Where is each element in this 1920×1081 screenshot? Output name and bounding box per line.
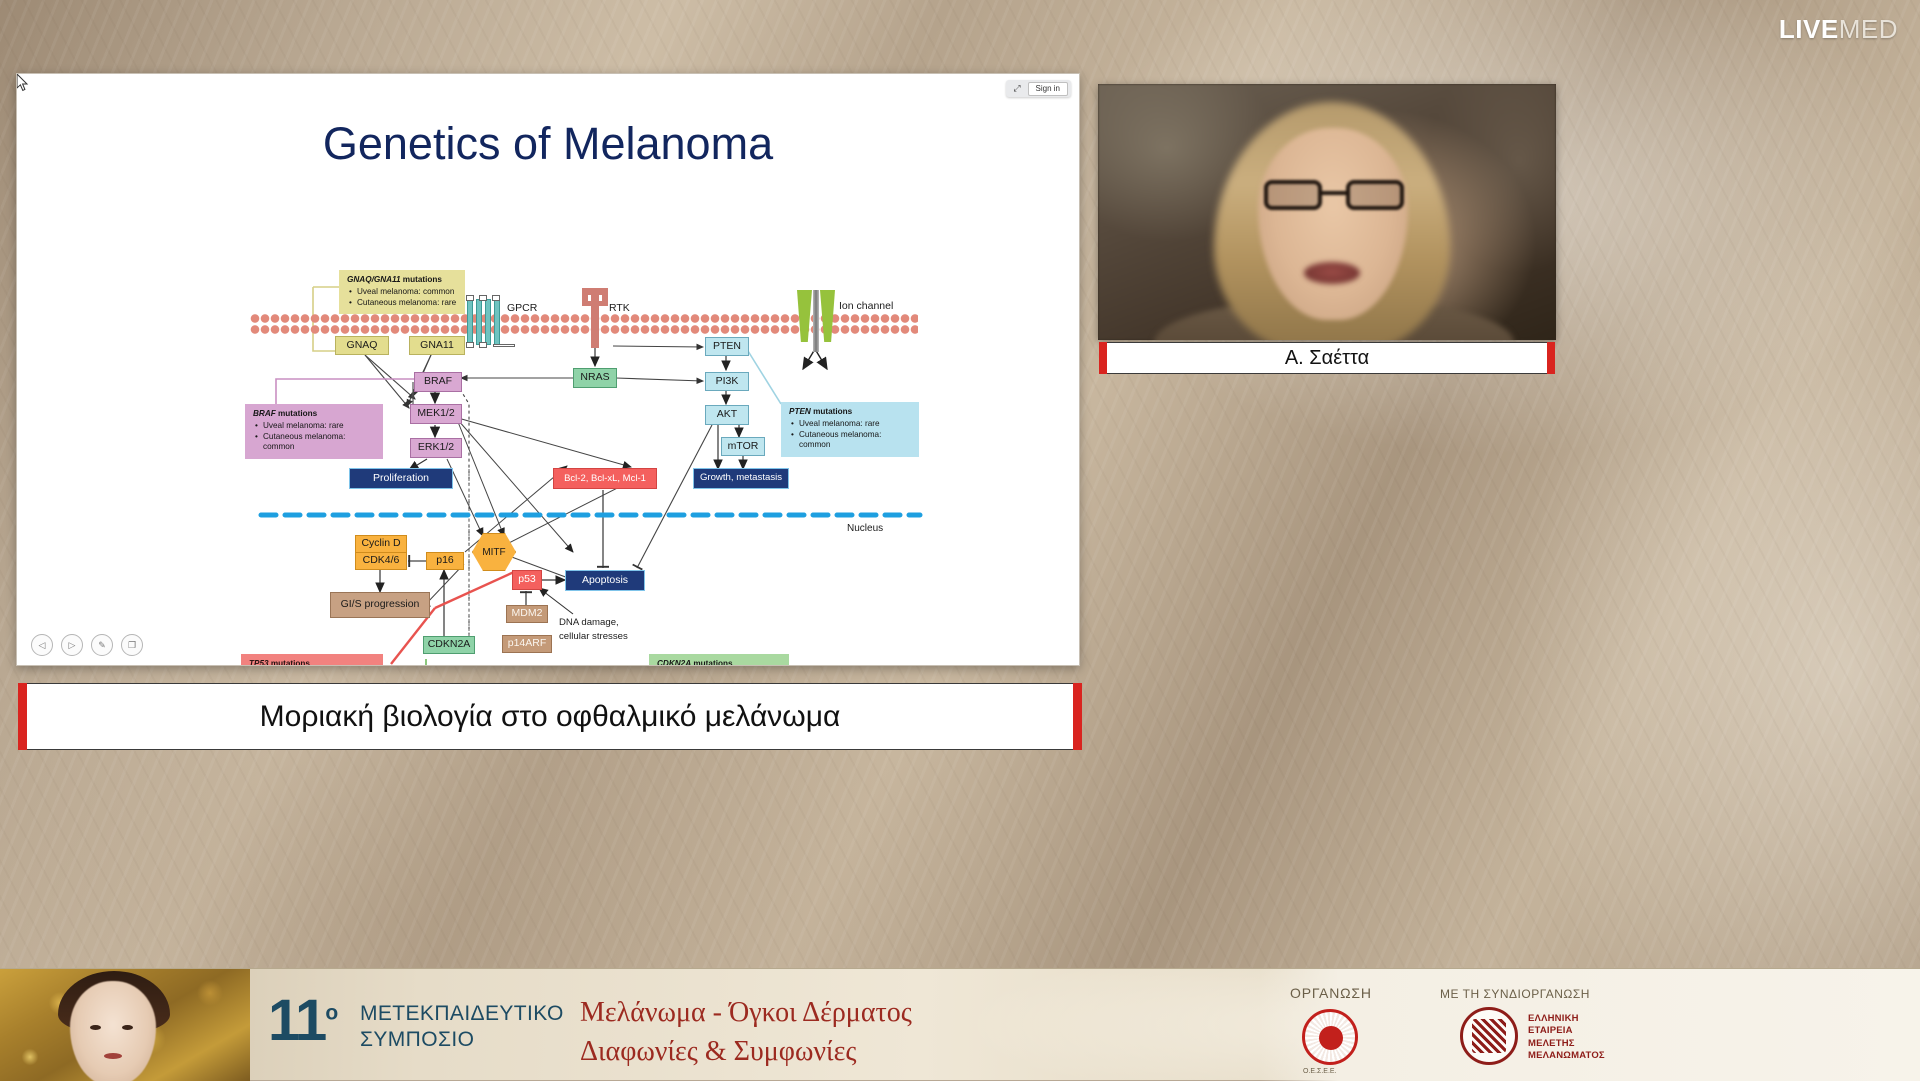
dna-damage-label-line2: cellular stresses <box>559 631 628 642</box>
node-p16: p16 <box>426 552 464 570</box>
glasses-right-lens <box>1346 180 1404 210</box>
node-apoptosis: Apoptosis <box>565 570 645 591</box>
node-braf: BRAF <box>414 372 462 392</box>
ion-channel-label: Ion channel <box>839 300 893 312</box>
event-footer: 11o ΜΕΤΕΚΠΑΙΔΕΥΤΙΚΟ ΣΥΜΠΟΣΙΟ Μελάνωμα - … <box>0 968 1920 1080</box>
mutation-box-tp53: TP53 mutations Uveal melanoma: rare Cuta… <box>241 654 383 666</box>
slide-viewer[interactable]: Genetics of Melanoma <box>16 73 1080 666</box>
mutation-gene-gnaq-gna11: GNAQ/GNA11 <box>347 275 401 284</box>
node-akt: AKT <box>705 405 749 425</box>
organizer-seal-text: Ο.Ε.Σ.Ε.Ε. <box>1303 1068 1337 1075</box>
coorganizer-name: ΕΛΛΗΝΙΚΗ ΕΤΑΙΡΕΙΑ ΜΕΛΕΤΗΣ ΜΕΛΑΝΩΜΑΤΟΣ <box>1528 1013 1605 1062</box>
pathway-connectors <box>17 74 1080 666</box>
slide-content: Genetics of Melanoma <box>17 74 1079 665</box>
klimt-artwork <box>0 969 250 1081</box>
mutation-gene-braf: BRAF <box>253 409 276 418</box>
mutation-suffix-braf: mutations <box>276 409 317 418</box>
copy-button[interactable]: ❐ <box>121 634 143 656</box>
speaker-glasses <box>1264 180 1404 210</box>
organizer-label: ΟΡΓΑΝΩΣΗ <box>1290 985 1372 1001</box>
mutation-box-pten: PTEN mutations Uveal melanoma: rare Cuta… <box>781 402 919 457</box>
node-mdm2: MDM2 <box>506 605 548 623</box>
ion-channel <box>797 290 835 350</box>
node-mek: MEK1/2 <box>410 404 462 424</box>
organizer-seal-icon: Ο.Ε.Σ.Ε.Ε. <box>1302 1009 1358 1065</box>
node-cdk46: CDK4/6 <box>355 552 407 570</box>
banner-accent-left <box>18 683 27 750</box>
mutation-gene-tp53: TP53 <box>249 659 269 666</box>
node-cyclin-d: Cyclin D <box>355 535 407 553</box>
top-bar: LIVEMED <box>0 0 1920 62</box>
mutation-box-braf: BRAF mutations Uveal melanoma: rare Cuta… <box>245 404 383 459</box>
event-title: Μελάνωμα - Όγκοι Δέρματος Διαφωνίες & Συ… <box>580 993 912 1071</box>
node-erk: ERK1/2 <box>410 438 462 458</box>
mutation-suffix-gnaq-gna11: mutations <box>401 275 442 284</box>
glasses-left-lens <box>1264 180 1322 210</box>
coorganizer-seal-icon <box>1460 1007 1518 1065</box>
event-type-line-2: ΣΥΜΠΟΣΙΟ <box>360 1027 564 1053</box>
coorganizer-name-line-3: ΜΕΛΕΤΗΣ <box>1528 1038 1605 1050</box>
edition-number-value: 11 <box>268 988 325 1053</box>
coorganizer-name-line-4: ΜΕΛΑΝΩΜΑΤΟΣ <box>1528 1050 1605 1062</box>
nucleus-label: Nucleus <box>847 523 883 534</box>
node-mtor: mTOR <box>721 437 765 456</box>
presentation-title-banner: Μοριακή βιολογία στο οφθαλμικό μελάνωμα <box>26 683 1074 750</box>
node-pten: PTEN <box>705 337 749 356</box>
livemed-logo: LIVEMED <box>1779 14 1898 45</box>
banner-accent-right <box>1073 683 1082 750</box>
node-growth-metastasis: Growth, metastasis <box>693 468 789 489</box>
coorganizer-name-line-1: ΕΛΛΗΝΙΚΗ <box>1528 1013 1605 1025</box>
dna-damage-label-line1: DNA damage, <box>559 617 619 628</box>
glasses-bridge <box>1320 191 1348 195</box>
sign-in-button[interactable]: Sign in <box>1028 82 1068 96</box>
mutation-item: Cutaneous melanoma: common <box>789 430 911 452</box>
mutation-item: Uveal melanoma: rare <box>789 419 911 430</box>
klimt-mouth <box>104 1053 122 1059</box>
klimt-right-eye <box>122 1025 133 1030</box>
mutation-box-gnaq-gna11: GNAQ/GNA11 mutations Uveal melanoma: com… <box>339 270 465 314</box>
previous-slide-button[interactable]: ◁ <box>31 634 53 656</box>
coorganizer-name-line-2: ΕΤΑΙΡΕΙΑ <box>1528 1025 1605 1037</box>
mutation-suffix-pten: mutations <box>811 407 852 416</box>
rtk-label: RTK <box>609 302 630 314</box>
gpcr-label: GPCR <box>507 302 537 314</box>
next-slide-button[interactable]: ▷ <box>61 634 83 656</box>
presentation-title: Μοριακή βιολογία στο οφθαλμικό μελάνωμα <box>260 700 841 734</box>
node-p14arf: p14ARF <box>502 635 552 653</box>
speaker-video[interactable] <box>1098 84 1556 340</box>
node-proliferation: Proliferation <box>349 468 453 489</box>
pen-tool-button[interactable]: ✎ <box>91 634 113 656</box>
event-type-line-1: ΜΕΤΕΚΠΑΙΔΕΥΤΙΚΟ <box>360 1001 564 1027</box>
node-gis-progression: GI/S progression <box>330 592 430 618</box>
nameplate-accent-left <box>1099 342 1107 374</box>
pathway-diagram: GPCR RTK Ion channel Nucleus DNA damage,… <box>17 74 1080 666</box>
speaker-name: Α. Σαέττα <box>1285 347 1369 370</box>
mutation-item: Cutaneous melanoma: common <box>253 432 375 454</box>
node-gna11: GNA11 <box>409 336 465 355</box>
speaker-mouth <box>1304 262 1360 284</box>
mutation-box-cdkn2a: CDKN2A mutations Uveal melanoma: rare Cu… <box>649 654 789 666</box>
mouse-cursor <box>17 74 29 92</box>
node-cdkn2a: CDKN2A <box>423 636 475 654</box>
logo-live: LIVE <box>1779 14 1839 44</box>
mutation-item: Uveal melanoma: common <box>347 287 457 298</box>
nameplate-accent-right <box>1547 342 1555 374</box>
mutation-suffix-tp53: mutations <box>269 659 310 666</box>
node-gnaq: GNAQ <box>335 336 389 355</box>
logo-med: MED <box>1839 14 1898 44</box>
klimt-face <box>70 981 156 1081</box>
event-title-line-2: Διαφωνίες & Συμφωνίες <box>580 1032 912 1071</box>
mutation-gene-cdkn2a: CDKN2A <box>657 659 691 666</box>
event-title-line-1: Μελάνωμα - Όγκοι Δέρματος <box>580 993 912 1032</box>
node-p53: p53 <box>512 570 542 590</box>
slide-player-controls[interactable]: ◁ ▷ ✎ ❐ <box>31 634 143 656</box>
speaker-nameplate: Α. Σαέττα <box>1106 342 1548 374</box>
mutation-item: Cutaneous melanoma: rare <box>347 298 457 309</box>
node-nras: NRAS <box>573 368 617 388</box>
edition-number: 11o <box>268 987 336 1054</box>
mutation-item: Uveal melanoma: rare <box>253 421 375 432</box>
edition-ordinal: o <box>325 1002 336 1025</box>
node-bcl: Bcl-2, Bcl-xL, Mcl-1 <box>553 468 657 489</box>
event-type: ΜΕΤΕΚΠΑΙΔΕΥΤΙΚΟ ΣΥΜΠΟΣΙΟ <box>360 1001 564 1054</box>
rtk-receptor <box>582 288 608 348</box>
mutation-gene-pten: PTEN <box>789 407 811 416</box>
expand-icon[interactable]: ⤢ <box>1009 82 1024 95</box>
node-pi3k: PI3K <box>705 372 749 391</box>
klimt-left-eye <box>90 1025 101 1030</box>
sponsors-area: ΟΡΓΑΝΩΣΗ ΜΕ ΤΗ ΣΥΝΔΙΟΡΓΑΝΩΣΗ Ο.Ε.Σ.Ε.Ε. … <box>1260 969 1920 1081</box>
document-controls[interactable]: ⤢ Sign in <box>1006 80 1071 97</box>
gpcr-receptor <box>467 295 507 347</box>
mutation-suffix-cdkn2a: mutations <box>691 659 732 666</box>
coorganizer-label: ΜΕ ΤΗ ΣΥΝΔΙΟΡΓΑΝΩΣΗ <box>1440 987 1590 1001</box>
